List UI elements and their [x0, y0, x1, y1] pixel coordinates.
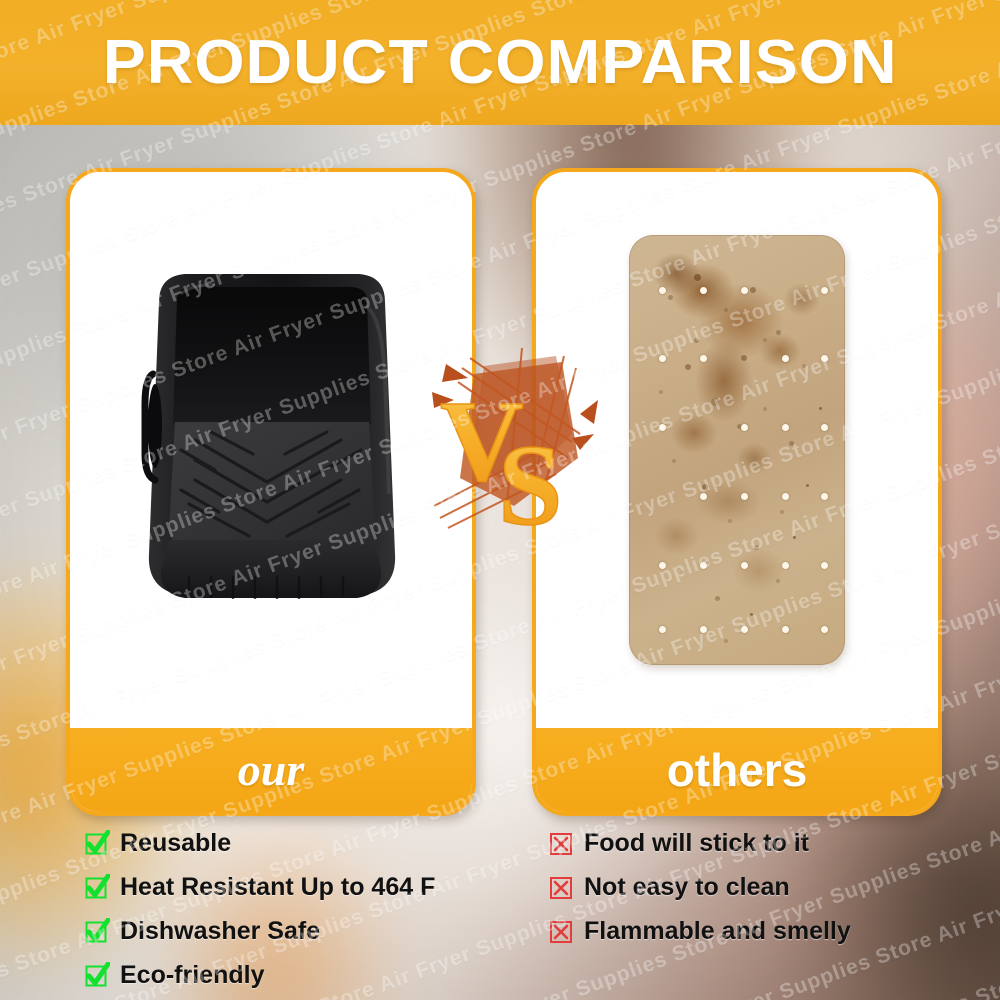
- parchment-stain: [685, 364, 691, 370]
- parchment-stain: [741, 355, 747, 361]
- parchment-stain: [724, 308, 728, 312]
- check-icon: [84, 918, 110, 944]
- card-others-footer: others: [536, 728, 938, 812]
- parchment-stain: [802, 364, 806, 368]
- feature-label: Eco-friendly: [120, 961, 264, 990]
- feature-item: Heat Resistant Up to 464 F: [84, 866, 435, 908]
- perforation-hole: [700, 562, 707, 569]
- card-our: our: [66, 168, 476, 816]
- versus-letter-s: S: [498, 422, 563, 548]
- feature-list-others: Food will stick to itNot easy to cleanFl…: [548, 822, 851, 954]
- parchment-stain: [715, 596, 720, 601]
- parchment-stain: [681, 570, 685, 574]
- parchment-stain: [819, 407, 822, 410]
- card-others-label: others: [667, 747, 808, 793]
- parchment-stain: [793, 536, 796, 539]
- check-icon: [84, 962, 110, 988]
- perforation-hole: [782, 424, 789, 431]
- parchment-stain: [668, 295, 673, 300]
- feature-label: Dishwasher Safe: [120, 917, 320, 946]
- parchment-stain: [711, 398, 719, 406]
- perforation-hole: [821, 287, 828, 294]
- feature-label: Heat Resistant Up to 464 F: [120, 873, 435, 902]
- feature-list-our: ReusableHeat Resistant Up to 464 FDishwa…: [84, 822, 435, 998]
- feature-label: Flammable and smelly: [584, 917, 851, 946]
- perforation-hole: [700, 355, 707, 362]
- parchment-stain: [694, 274, 701, 281]
- feature-label: Food will stick to it: [584, 829, 809, 858]
- perforation-hole: [741, 493, 748, 500]
- feature-item: Flammable and smelly: [548, 910, 851, 952]
- perforation-hole: [782, 562, 789, 569]
- perforation-hole: [782, 355, 789, 362]
- perforation-hole: [821, 493, 828, 500]
- perforation-hole: [821, 424, 828, 431]
- cross-icon: [548, 874, 574, 900]
- parchment-stain: [776, 330, 781, 335]
- perforation-hole: [700, 287, 707, 294]
- parchment-stain: [763, 338, 767, 342]
- perforation-hole: [782, 626, 789, 633]
- feature-item: Not easy to clean: [548, 866, 851, 908]
- parchment-stain: [659, 390, 663, 394]
- feature-item: Food will stick to it: [548, 822, 851, 864]
- silicone-basket-image: [119, 254, 424, 654]
- parchment-stain: [806, 484, 809, 487]
- parchment-stain: [763, 407, 767, 411]
- parchment-stain: [672, 459, 676, 463]
- parchment-stain: [789, 441, 794, 446]
- cross-icon: [548, 830, 574, 856]
- feature-item: Eco-friendly: [84, 954, 435, 996]
- perforation-hole: [782, 493, 789, 500]
- perforation-hole: [741, 626, 748, 633]
- perforation-hole: [741, 562, 748, 569]
- parchment-stain: [750, 287, 756, 293]
- card-our-image-area: [70, 172, 472, 728]
- perforation-hole: [659, 626, 666, 633]
- perforation-hole: [659, 562, 666, 569]
- page-title: PRODUCT COMPARISON: [103, 27, 898, 98]
- card-our-label: our: [238, 747, 304, 793]
- parchment-liner-image: [629, 235, 845, 665]
- parchment-stain: [754, 545, 759, 550]
- cross-icon: [548, 918, 574, 944]
- feature-label: Not easy to clean: [584, 873, 790, 902]
- parchment-stain: [750, 613, 753, 616]
- check-icon: [84, 830, 110, 856]
- versus-badge: V S: [422, 338, 602, 548]
- parchment-stain: [780, 510, 784, 514]
- card-our-footer: our: [70, 728, 472, 812]
- parchment-stain: [728, 519, 732, 523]
- perforation-hole: [821, 355, 828, 362]
- feature-lists: ReusableHeat Resistant Up to 464 FDishwa…: [0, 822, 1000, 1000]
- parchment-stain: [694, 338, 699, 343]
- perforation-hole: [659, 355, 666, 362]
- perforation-hole: [741, 287, 748, 294]
- parchment-stain: [702, 484, 708, 490]
- check-icon: [84, 874, 110, 900]
- perforation-hole: [700, 626, 707, 633]
- feature-item: Dishwasher Safe: [84, 910, 435, 952]
- perforation-hole: [821, 562, 828, 569]
- header-banner: PRODUCT COMPARISON: [0, 0, 1000, 125]
- perforation-hole: [700, 493, 707, 500]
- perforation-hole: [659, 287, 666, 294]
- product-comparison-infographic: PRODUCT COMPARISON: [0, 0, 1000, 1000]
- feature-label: Reusable: [120, 829, 231, 858]
- perforation-hole: [659, 424, 666, 431]
- perforation-hole: [741, 424, 748, 431]
- perforation-hole: [821, 626, 828, 633]
- parchment-stain: [776, 579, 780, 583]
- parchment-stain: [724, 639, 728, 643]
- feature-item: Reusable: [84, 822, 435, 864]
